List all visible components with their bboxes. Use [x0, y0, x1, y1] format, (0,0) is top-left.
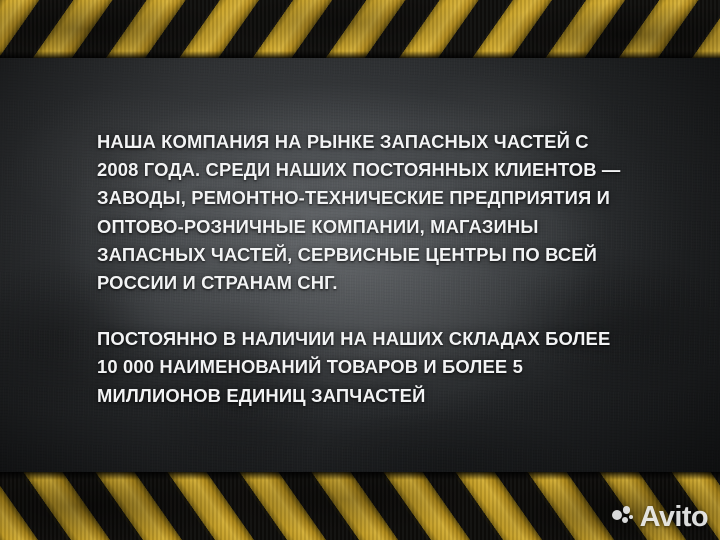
promo-banner: Наша компания на рынке запасных частей с…: [0, 0, 720, 540]
hazard-stripe-band-top: [0, 0, 720, 58]
promo-copy-block: Наша компания на рынке запасных частей с…: [97, 128, 633, 410]
hazard-grunge-top: [0, 0, 720, 58]
avito-watermark: Avito: [612, 503, 708, 532]
hazard-edge-shadow-bottom: [0, 472, 720, 480]
promo-paragraph-stock: Постоянно в наличии на наших складах бол…: [97, 325, 633, 410]
avito-wordmark: Avito: [640, 503, 708, 532]
promo-paragraph-company: Наша компания на рынке запасных частей с…: [97, 128, 633, 297]
hazard-edge-shadow-top: [0, 51, 720, 58]
avito-dots-icon: [612, 506, 635, 529]
